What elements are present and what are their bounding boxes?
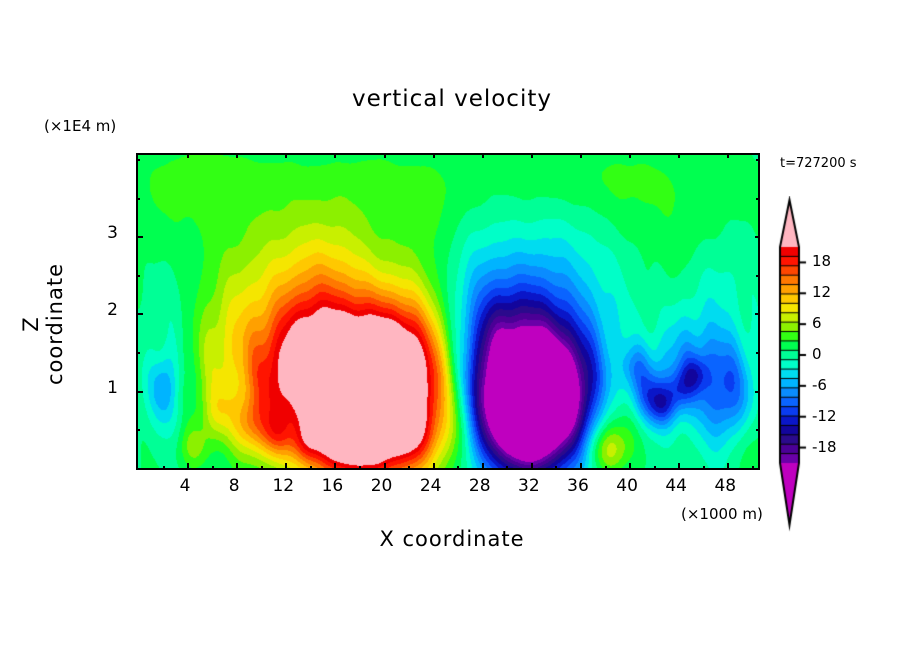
x-tick-top bbox=[334, 153, 336, 158]
x-minor-tick bbox=[212, 466, 214, 470]
y-tick bbox=[136, 391, 143, 393]
x-axis-label: X coordinate bbox=[0, 527, 904, 551]
x-tick-top bbox=[236, 153, 238, 158]
y-tick-right bbox=[755, 236, 760, 238]
y-minor-tick bbox=[136, 159, 140, 161]
x-minor-tick bbox=[457, 466, 459, 470]
x-tick bbox=[727, 463, 729, 470]
y-tick-right bbox=[755, 391, 760, 393]
z-unit-label: (×1E4 m) bbox=[44, 117, 116, 135]
x-tick-label: 40 bbox=[607, 476, 647, 496]
chart-title: vertical velocity bbox=[0, 86, 904, 112]
x-unit-label: (×1000 m) bbox=[681, 505, 763, 523]
x-tick bbox=[531, 463, 533, 470]
y-minor-tick-right bbox=[756, 198, 760, 200]
x-minor-tick bbox=[654, 466, 656, 470]
x-tick bbox=[285, 463, 287, 470]
y-minor-tick bbox=[136, 352, 140, 354]
x-tick bbox=[482, 463, 484, 470]
x-tick bbox=[384, 463, 386, 470]
x-minor-tick bbox=[163, 466, 165, 470]
x-tick-label: 24 bbox=[411, 476, 451, 496]
y-tick bbox=[136, 236, 143, 238]
y-tick bbox=[136, 313, 143, 315]
colorbar-tick-label: 12 bbox=[812, 283, 831, 301]
contour-field bbox=[138, 155, 758, 468]
x-minor-tick bbox=[359, 466, 361, 470]
x-tick-top bbox=[285, 153, 287, 158]
y-axis-label: Z coordinate bbox=[19, 254, 67, 394]
x-tick bbox=[334, 463, 336, 470]
y-tick-label: 1 bbox=[92, 378, 118, 398]
colorbar-tick-label: 0 bbox=[812, 345, 822, 363]
x-tick bbox=[187, 463, 189, 470]
colorbar-tick-label: -18 bbox=[812, 438, 837, 456]
x-tick-top bbox=[384, 153, 386, 158]
x-minor-tick bbox=[310, 466, 312, 470]
y-minor-tick-right bbox=[756, 159, 760, 161]
plot-area bbox=[136, 153, 760, 470]
x-minor-tick bbox=[261, 466, 263, 470]
x-tick bbox=[629, 463, 631, 470]
x-tick-label: 4 bbox=[165, 476, 205, 496]
y-tick-label: 3 bbox=[92, 223, 118, 243]
x-tick-label: 12 bbox=[263, 476, 303, 496]
y-tick-right bbox=[755, 313, 760, 315]
x-tick-label: 8 bbox=[214, 476, 254, 496]
y-tick-label: 2 bbox=[92, 300, 118, 320]
x-tick-top bbox=[727, 153, 729, 158]
x-minor-tick bbox=[408, 466, 410, 470]
x-minor-tick bbox=[605, 466, 607, 470]
x-tick-label: 16 bbox=[312, 476, 352, 496]
x-tick-label: 20 bbox=[362, 476, 402, 496]
colorbar-tick-label: 18 bbox=[812, 252, 831, 270]
time-annotation: t=727200 s bbox=[780, 156, 857, 171]
x-tick bbox=[678, 463, 680, 470]
x-tick-label: 44 bbox=[656, 476, 696, 496]
x-minor-tick bbox=[506, 466, 508, 470]
x-tick-top bbox=[433, 153, 435, 158]
y-minor-tick bbox=[136, 198, 140, 200]
y-minor-tick-right bbox=[756, 352, 760, 354]
x-minor-tick bbox=[752, 466, 754, 470]
x-tick-top bbox=[580, 153, 582, 158]
y-minor-tick bbox=[136, 275, 140, 277]
x-tick-top bbox=[678, 153, 680, 158]
x-minor-tick bbox=[703, 466, 705, 470]
y-minor-tick-right bbox=[756, 275, 760, 277]
x-tick bbox=[433, 463, 435, 470]
x-tick-top bbox=[482, 153, 484, 158]
x-minor-tick bbox=[555, 466, 557, 470]
x-tick bbox=[236, 463, 238, 470]
colorbar-tick-label: -6 bbox=[812, 376, 827, 394]
x-tick-label: 36 bbox=[558, 476, 598, 496]
x-tick-label: 48 bbox=[705, 476, 745, 496]
y-minor-tick-right bbox=[756, 429, 760, 431]
x-tick-label: 32 bbox=[509, 476, 549, 496]
y-minor-tick bbox=[136, 429, 140, 431]
x-tick bbox=[580, 463, 582, 470]
colorbar: 181260-6-12-18 bbox=[770, 196, 890, 536]
x-tick-label: 28 bbox=[460, 476, 500, 496]
colorbar-tick-label: 6 bbox=[812, 314, 822, 332]
colorbar-tick-label: -12 bbox=[812, 407, 837, 425]
colorbar-gradient bbox=[770, 196, 810, 536]
x-tick-top bbox=[187, 153, 189, 158]
x-tick-top bbox=[629, 153, 631, 158]
x-tick-top bbox=[531, 153, 533, 158]
